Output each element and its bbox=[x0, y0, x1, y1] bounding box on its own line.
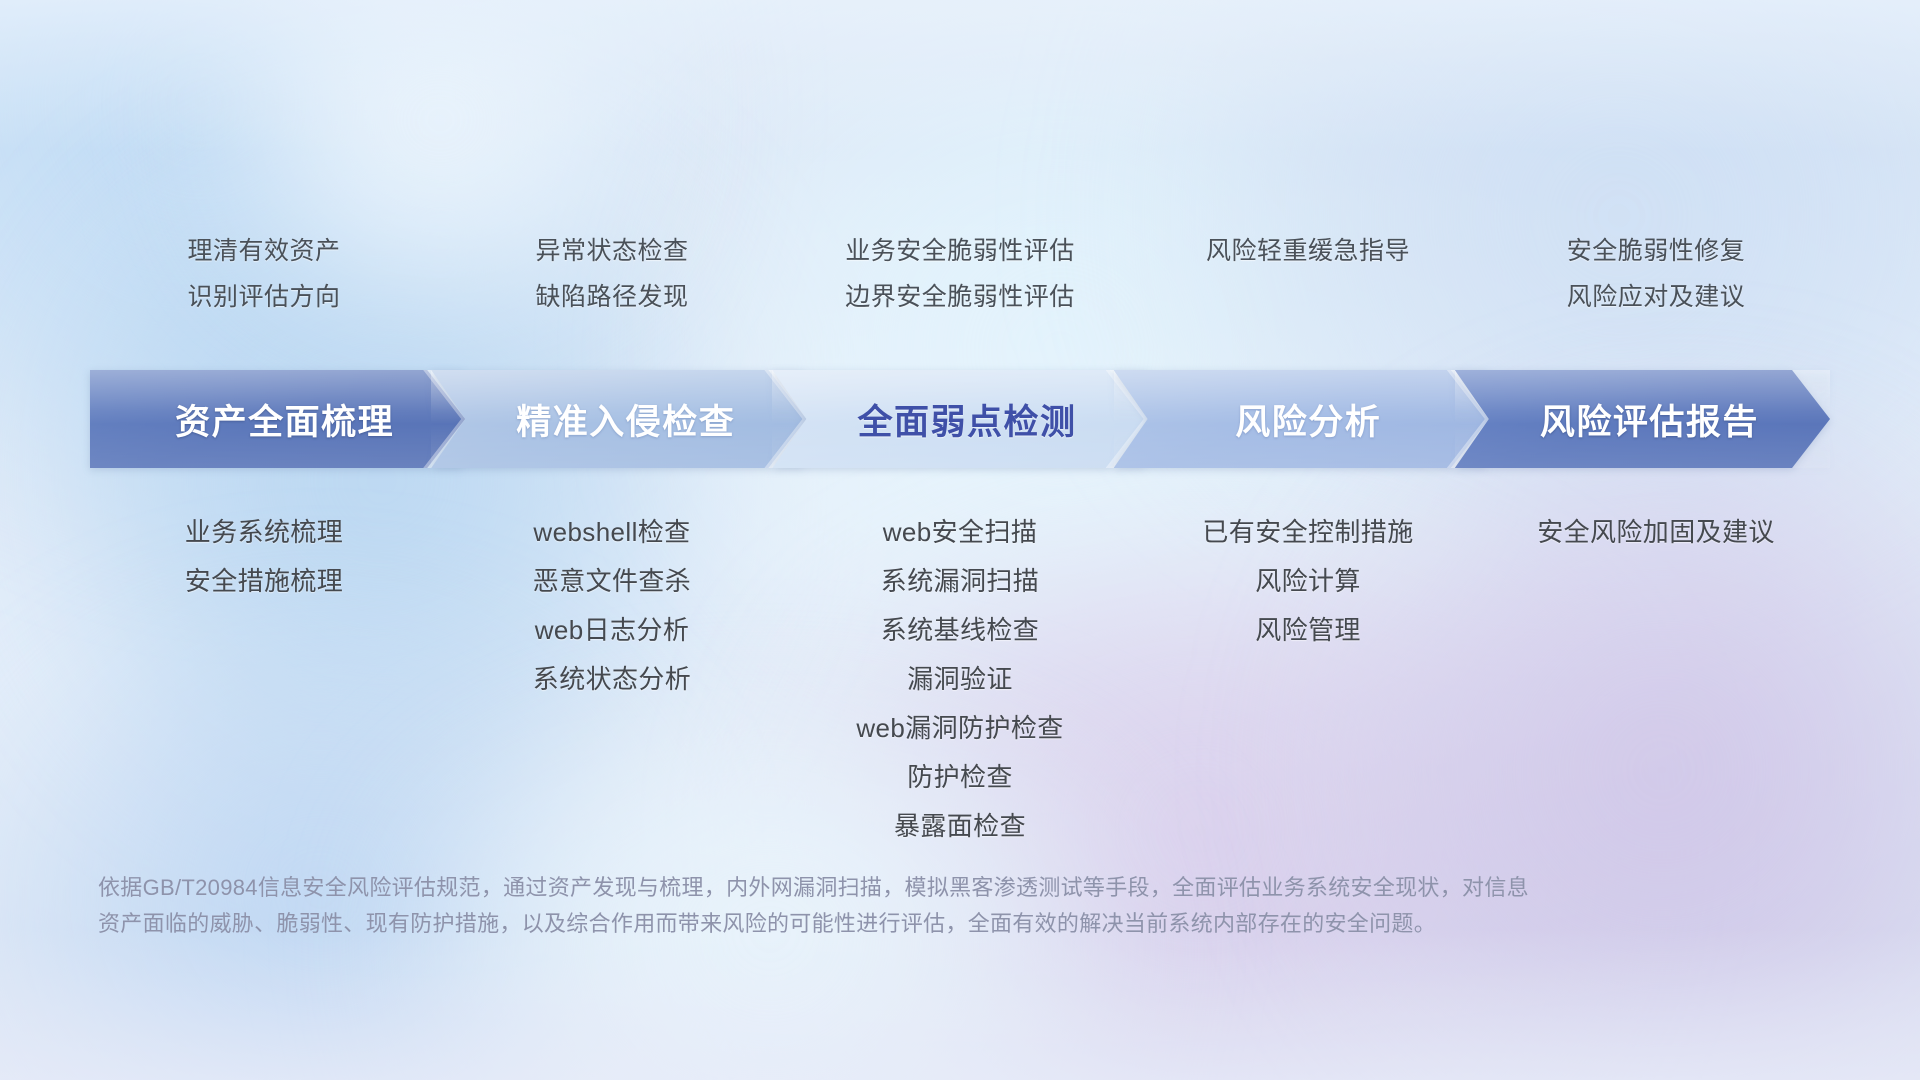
top-notes-stage-1: 理清有效资产 识别评估方向 bbox=[90, 228, 438, 320]
stage-label-5: 风险评估报告 bbox=[1526, 394, 1759, 445]
stage-items-row: 业务系统梳理 安全措施梳理 webshell检查 恶意文件查杀 web日志分析 … bbox=[90, 508, 1830, 851]
stage-label-2: 精准入侵检查 bbox=[502, 394, 735, 445]
list-item: 系统基线检查 bbox=[786, 606, 1134, 655]
top-note: 异常状态检查 bbox=[438, 228, 786, 274]
list-item: 恶意文件查杀 bbox=[438, 557, 786, 606]
list-item: 系统漏洞扫描 bbox=[786, 557, 1134, 606]
footer-line: 资产面临的威胁、脆弱性、现有防护措施，以及综合作用而带来风险的可能性进行评估，全… bbox=[98, 906, 1658, 942]
top-note: 风险应对及建议 bbox=[1482, 274, 1830, 320]
top-notes-stage-3: 业务安全脆弱性评估 边界安全脆弱性评估 bbox=[786, 228, 1134, 320]
process-diagram: 理清有效资产 识别评估方向 异常状态检查 缺陷路径发现 业务安全脆弱性评估 边界… bbox=[0, 0, 1920, 1080]
stage-items-2: webshell检查 恶意文件查杀 web日志分析 系统状态分析 bbox=[438, 508, 786, 704]
stage-items-3: web安全扫描 系统漏洞扫描 系统基线检查 漏洞验证 web漏洞防护检查 防护检… bbox=[786, 508, 1134, 851]
top-note: 缺陷路径发现 bbox=[438, 274, 786, 320]
list-item: 漏洞验证 bbox=[786, 655, 1134, 704]
list-item: web日志分析 bbox=[438, 606, 786, 655]
list-item: 安全措施梳理 bbox=[90, 557, 438, 606]
list-item: 系统状态分析 bbox=[438, 655, 786, 704]
list-item: 暴露面检查 bbox=[786, 802, 1134, 851]
top-notes-stage-2: 异常状态检查 缺陷路径发现 bbox=[438, 228, 786, 320]
list-item: web漏洞防护检查 bbox=[786, 704, 1134, 753]
stage-arrow-5[interactable]: 风险评估报告 bbox=[1455, 370, 1830, 468]
stage-arrow-banner: 资产全面梳理 精准入侵检查 全面弱点检测 风险分析 风险评估报告 bbox=[90, 370, 1830, 468]
list-item: 业务系统梳理 bbox=[90, 508, 438, 557]
list-item: webshell检查 bbox=[438, 508, 786, 557]
top-note: 安全脆弱性修复 bbox=[1482, 228, 1830, 274]
top-notes-row: 理清有效资产 识别评估方向 异常状态检查 缺陷路径发现 业务安全脆弱性评估 边界… bbox=[90, 228, 1830, 320]
list-item: 风险计算 bbox=[1134, 557, 1482, 606]
stage-arrow-2[interactable]: 精准入侵检查 bbox=[431, 370, 806, 468]
stage-label-1: 资产全面梳理 bbox=[161, 394, 394, 445]
top-notes-stage-4: 风险轻重缓急指导 bbox=[1134, 228, 1482, 320]
footer-description: 依据GB/T20984信息安全风险评估规范，通过资产发现与梳理，内外网漏洞扫描，… bbox=[98, 870, 1658, 942]
top-notes-stage-5: 安全脆弱性修复 风险应对及建议 bbox=[1482, 228, 1830, 320]
stage-items-1: 业务系统梳理 安全措施梳理 bbox=[90, 508, 438, 606]
list-item: web安全扫描 bbox=[786, 508, 1134, 557]
stage-label-3: 全面弱点检测 bbox=[844, 394, 1077, 445]
list-item: 安全风险加固及建议 bbox=[1482, 508, 1830, 557]
top-note: 识别评估方向 bbox=[90, 274, 438, 320]
stage-items-5: 安全风险加固及建议 bbox=[1482, 508, 1830, 557]
list-item: 已有安全控制措施 bbox=[1134, 508, 1482, 557]
list-item: 防护检查 bbox=[786, 753, 1134, 802]
top-note: 边界安全脆弱性评估 bbox=[786, 274, 1134, 320]
footer-line: 依据GB/T20984信息安全风险评估规范，通过资产发现与梳理，内外网漏洞扫描，… bbox=[98, 870, 1658, 906]
stage-arrow-3[interactable]: 全面弱点检测 bbox=[772, 370, 1147, 468]
stage-label-4: 风险分析 bbox=[1221, 394, 1381, 445]
top-note: 风险轻重缓急指导 bbox=[1134, 228, 1482, 274]
top-note: 理清有效资产 bbox=[90, 228, 438, 274]
top-note: 业务安全脆弱性评估 bbox=[786, 228, 1134, 274]
stage-arrow-4[interactable]: 风险分析 bbox=[1114, 370, 1489, 468]
stage-arrow-1[interactable]: 资产全面梳理 bbox=[90, 370, 465, 468]
stage-items-4: 已有安全控制措施 风险计算 风险管理 bbox=[1134, 508, 1482, 655]
list-item: 风险管理 bbox=[1134, 606, 1482, 655]
